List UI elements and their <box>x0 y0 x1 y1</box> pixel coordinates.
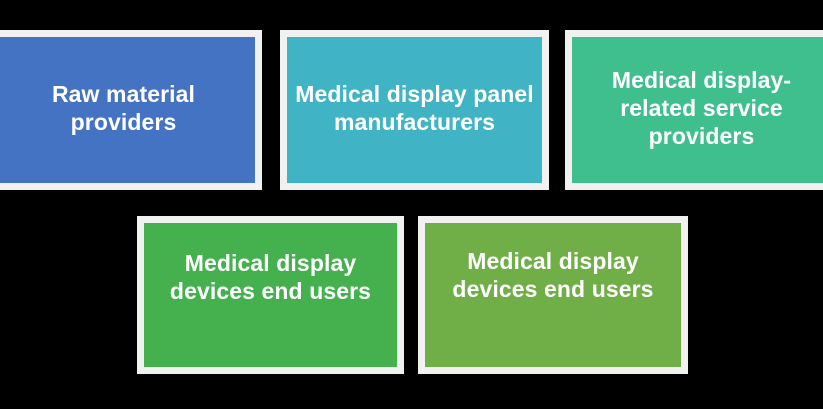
diagram-node-label: Medical display-related service provider… <box>572 66 823 150</box>
diagram-node-raw-material-providers[interactable]: Raw material providers <box>0 30 262 190</box>
diagram-canvas: Raw material providers Medical display p… <box>0 0 823 409</box>
diagram-node-label: Medical display devices end users <box>425 247 681 303</box>
diagram-node-medical-display-related-service-providers[interactable]: Medical display-related service provider… <box>565 30 823 190</box>
diagram-node-label: Medical display devices end users <box>144 249 397 305</box>
diagram-node-label: Medical display panel manufacturers <box>287 80 542 136</box>
diagram-node-medical-display-devices-end-users-2[interactable]: Medical display devices end users <box>418 216 688 374</box>
diagram-node-medical-display-panel-manufacturers[interactable]: Medical display panel manufacturers <box>280 30 549 190</box>
diagram-node-medical-display-devices-end-users-1[interactable]: Medical display devices end users <box>137 216 404 374</box>
diagram-node-label: Raw material providers <box>0 80 255 136</box>
